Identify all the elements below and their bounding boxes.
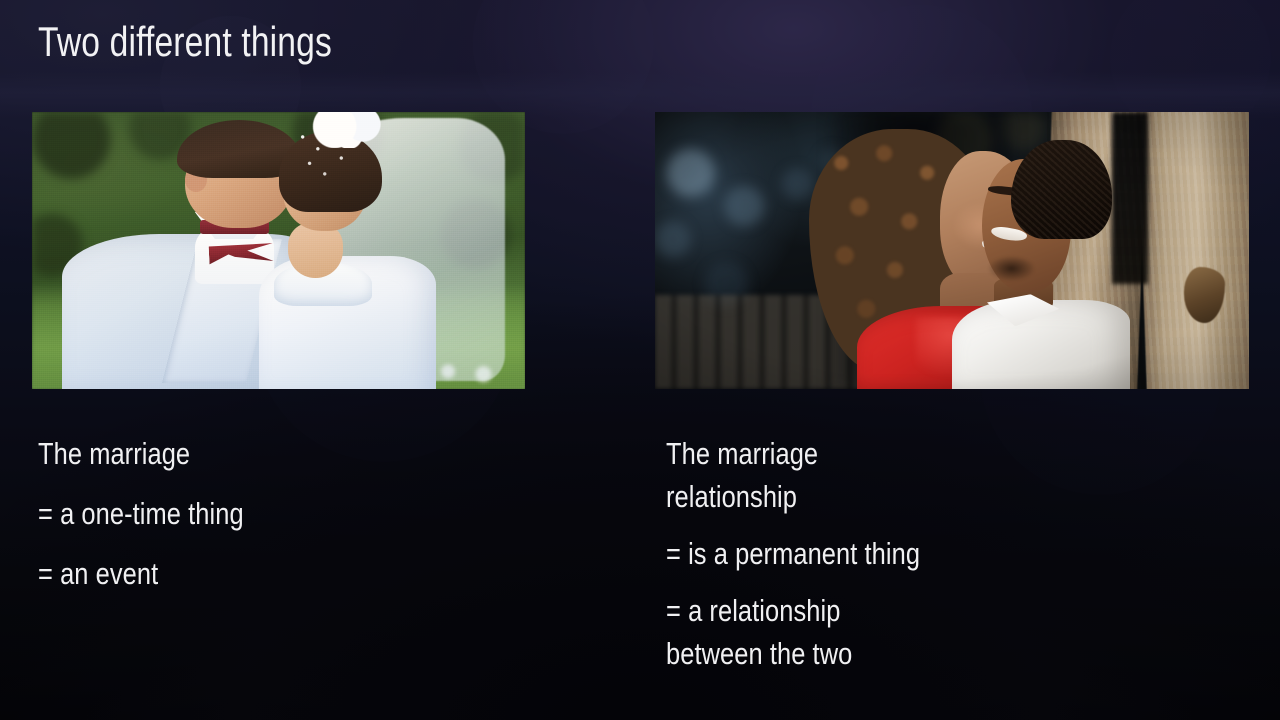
slide-title: Two different things: [38, 18, 332, 65]
left-paragraph-1: The marriage: [38, 432, 497, 475]
photo-film-grain: [32, 112, 525, 389]
wedding-ceremony-photo: [32, 112, 525, 389]
right-text-column: The marriage relationship = is a permane…: [666, 432, 1226, 689]
left-paragraph-2: = a one-time thing: [38, 492, 497, 535]
left-text-column: The marriage = a one-time thing = an eve…: [38, 432, 598, 612]
marriage-relationship-photo: [655, 112, 1249, 389]
photo-vignette: [655, 112, 1249, 389]
presentation-slide: Two different things: [0, 0, 1280, 720]
right-paragraph-3: = a relationship between the two: [666, 589, 1125, 675]
left-paragraph-3: = an event: [38, 552, 497, 595]
right-paragraph-2: = is a permanent thing: [666, 532, 1125, 575]
right-paragraph-1: The marriage relationship: [666, 432, 1125, 518]
